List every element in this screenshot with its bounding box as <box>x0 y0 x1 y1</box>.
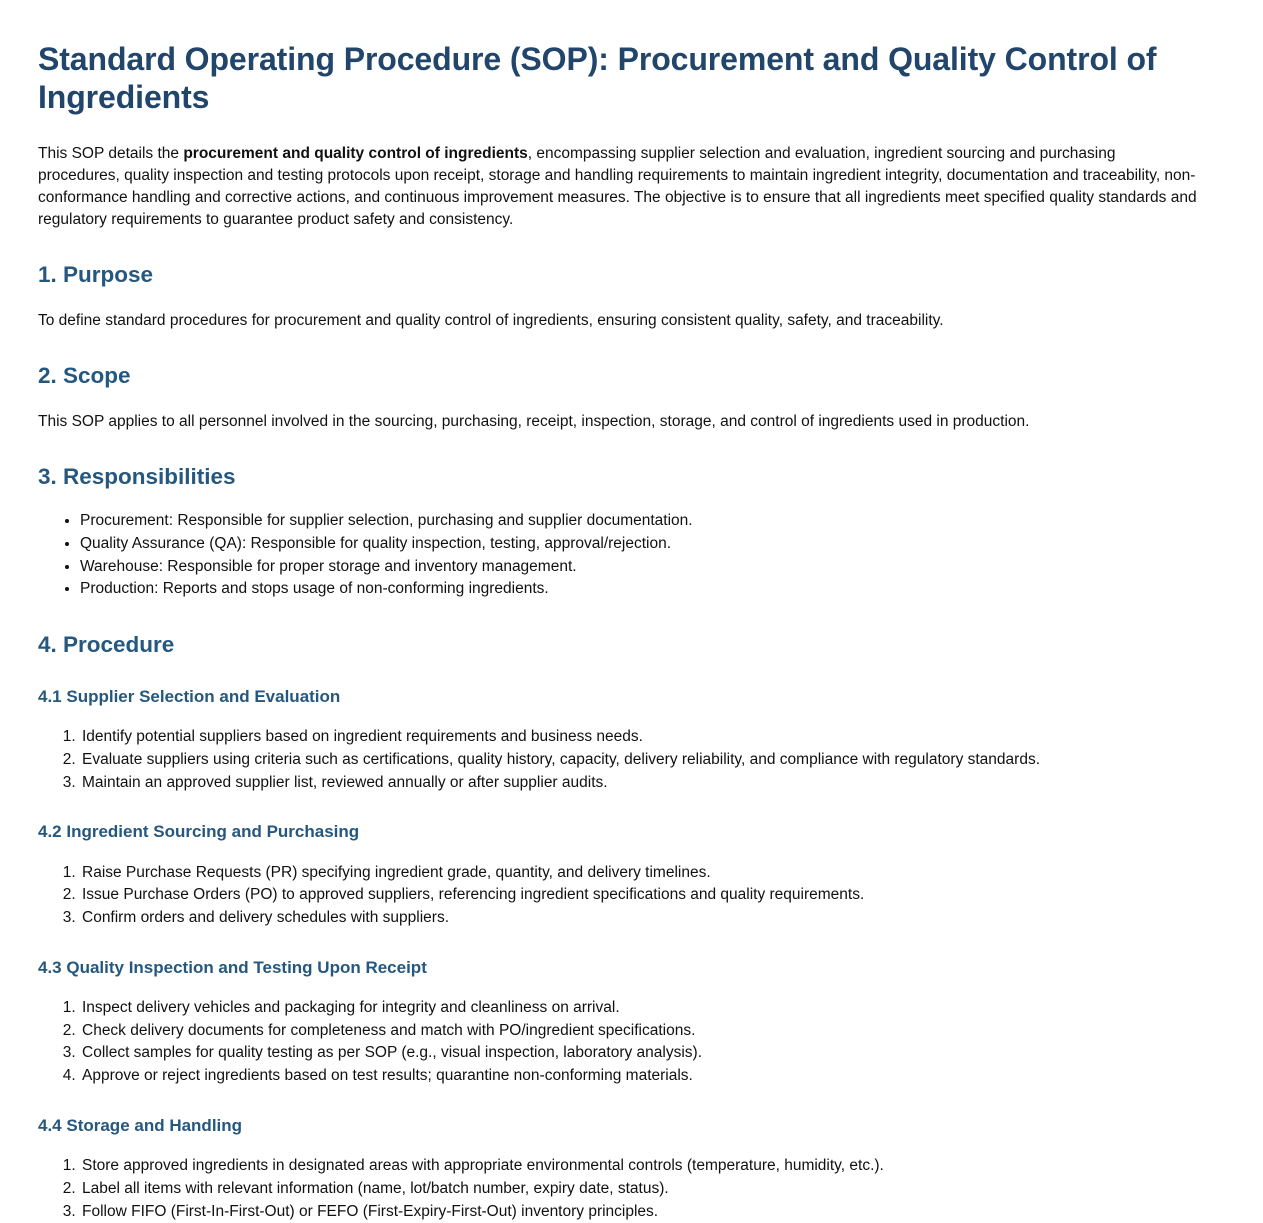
section-heading-procedure: 4. Procedure <box>38 631 1201 659</box>
quality-inspection-steps: Inspect delivery vehicles and packaging … <box>38 997 1201 1088</box>
list-item: Follow FIFO (First-In-First-Out) or FEFO… <box>80 1201 1201 1223</box>
list-item: Evaluate suppliers using criteria such a… <box>80 749 1201 772</box>
intro-emphasis: procurement and quality control of ingre… <box>183 145 527 162</box>
subsection-heading-quality-inspection: 4.3 Quality Inspection and Testing Upon … <box>38 957 1201 978</box>
document-page: Standard Operating Procedure (SOP): Proc… <box>0 0 1263 1223</box>
subsection-heading-supplier-selection: 4.1 Supplier Selection and Evaluation <box>38 686 1201 707</box>
subsection-heading-storage-handling: 4.4 Storage and Handling <box>38 1115 1201 1136</box>
list-item: Maintain an approved supplier list, revi… <box>80 772 1201 795</box>
list-item: Raise Purchase Requests (PR) specifying … <box>80 862 1201 885</box>
list-item: Confirm orders and delivery schedules wi… <box>80 907 1201 930</box>
list-item: Issue Purchase Orders (PO) to approved s… <box>80 884 1201 907</box>
section-heading-scope: 2. Scope <box>38 362 1201 390</box>
purpose-text: To define standard procedures for procur… <box>38 310 1201 332</box>
section-heading-purpose: 1. Purpose <box>38 261 1201 289</box>
list-item: Inspect delivery vehicles and packaging … <box>80 997 1201 1020</box>
supplier-selection-steps: Identify potential suppliers based on in… <box>38 726 1201 794</box>
page-title: Standard Operating Procedure (SOP): Proc… <box>38 40 1201 117</box>
list-item: Label all items with relevant informatio… <box>80 1178 1201 1201</box>
list-item: Production: Reports and stops usage of n… <box>80 578 1201 601</box>
responsibilities-list: Procurement: Responsible for supplier se… <box>38 510 1201 601</box>
list-item: Store approved ingredients in designated… <box>80 1155 1201 1178</box>
intro-paragraph: This SOP details the procurement and qua… <box>38 143 1201 231</box>
subsection-heading-sourcing-purchasing: 4.2 Ingredient Sourcing and Purchasing <box>38 821 1201 842</box>
list-item: Warehouse: Responsible for proper storag… <box>80 556 1201 579</box>
list-item: Quality Assurance (QA): Responsible for … <box>80 533 1201 556</box>
scope-text: This SOP applies to all personnel involv… <box>38 411 1201 433</box>
section-heading-responsibilities: 3. Responsibilities <box>38 463 1201 491</box>
list-item: Collect samples for quality testing as p… <box>80 1042 1201 1065</box>
sourcing-purchasing-steps: Raise Purchase Requests (PR) specifying … <box>38 862 1201 930</box>
list-item: Procurement: Responsible for supplier se… <box>80 510 1201 533</box>
list-item: Identify potential suppliers based on in… <box>80 726 1201 749</box>
list-item: Approve or reject ingredients based on t… <box>80 1065 1201 1088</box>
list-item: Check delivery documents for completenes… <box>80 1020 1201 1043</box>
storage-handling-steps: Store approved ingredients in designated… <box>38 1155 1201 1223</box>
intro-lead: This SOP details the <box>38 145 183 162</box>
